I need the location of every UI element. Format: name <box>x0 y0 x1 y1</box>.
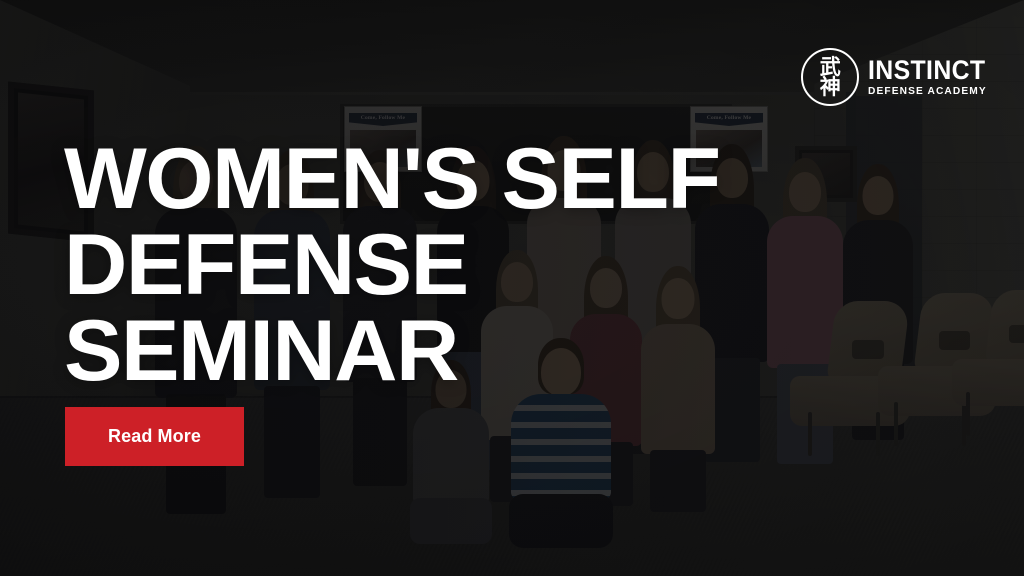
kanji-glyphs: 武 神 <box>820 57 841 97</box>
brand-logo[interactable]: 武 神 INSTINCT DEFENSE ACADEMY <box>801 48 996 106</box>
read-more-button[interactable]: Read More <box>65 407 244 466</box>
page-title: WOMEN'S SELF DEFENSE SEMINAR <box>64 136 720 394</box>
logo-tagline: DEFENSE ACADEMY <box>868 84 992 98</box>
logo-wordmark: INSTINCT DEFENSE ACADEMY <box>868 57 996 98</box>
kanji-bu: 武 <box>820 57 841 77</box>
circle-kanji-emblem-icon: 武 神 <box>801 48 859 106</box>
kanji-shin: 神 <box>820 77 841 97</box>
logo-brand-name: INSTINCT <box>868 57 985 84</box>
hero-content: WOMEN'S SELF DEFENSE SEMINAR Read More 武… <box>0 0 1024 576</box>
read-more-label: Read More <box>108 426 201 447</box>
hero-banner: Come, Follow Me Come, Follow Me <box>0 0 1024 576</box>
